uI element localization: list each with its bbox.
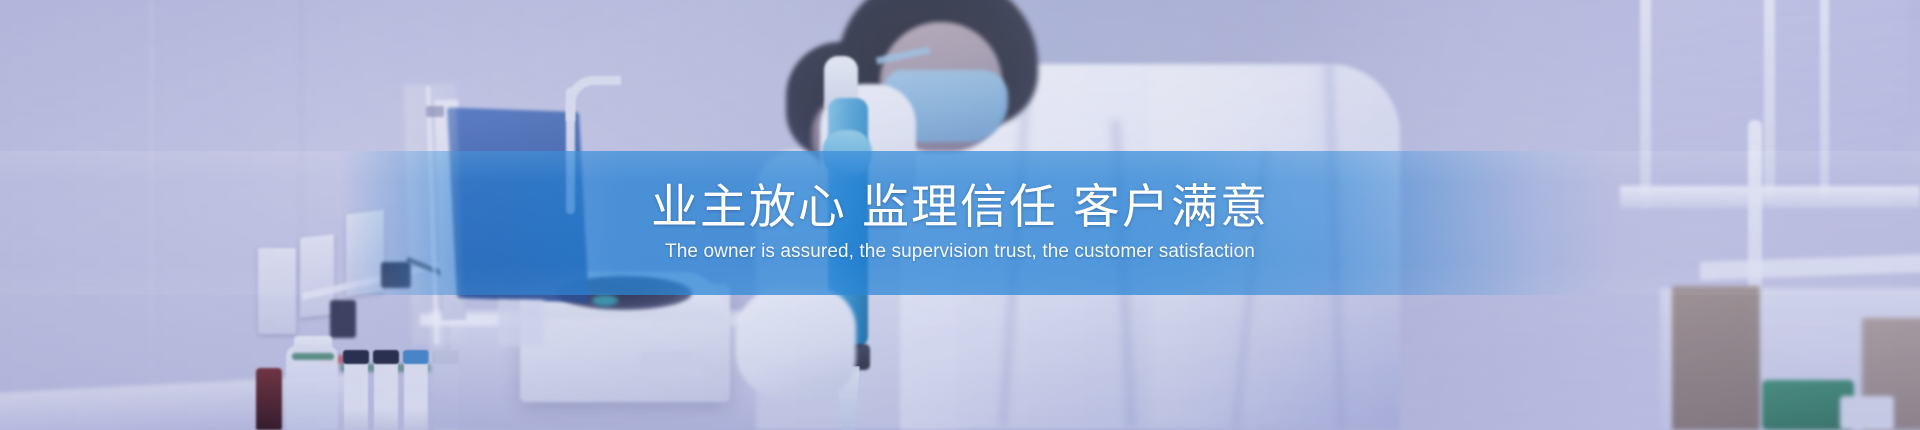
banner-text-block: 业主放心 监理信任 客户满意 The owner is assured, the… (0, 151, 1920, 295)
hero-banner: 业主放心 监理信任 客户满意 The owner is assured, the… (0, 0, 1920, 430)
banner-headline: 业主放心 监理信任 客户满意 (651, 182, 1269, 233)
banner-subline: The owner is assured, the supervision tr… (665, 241, 1255, 264)
